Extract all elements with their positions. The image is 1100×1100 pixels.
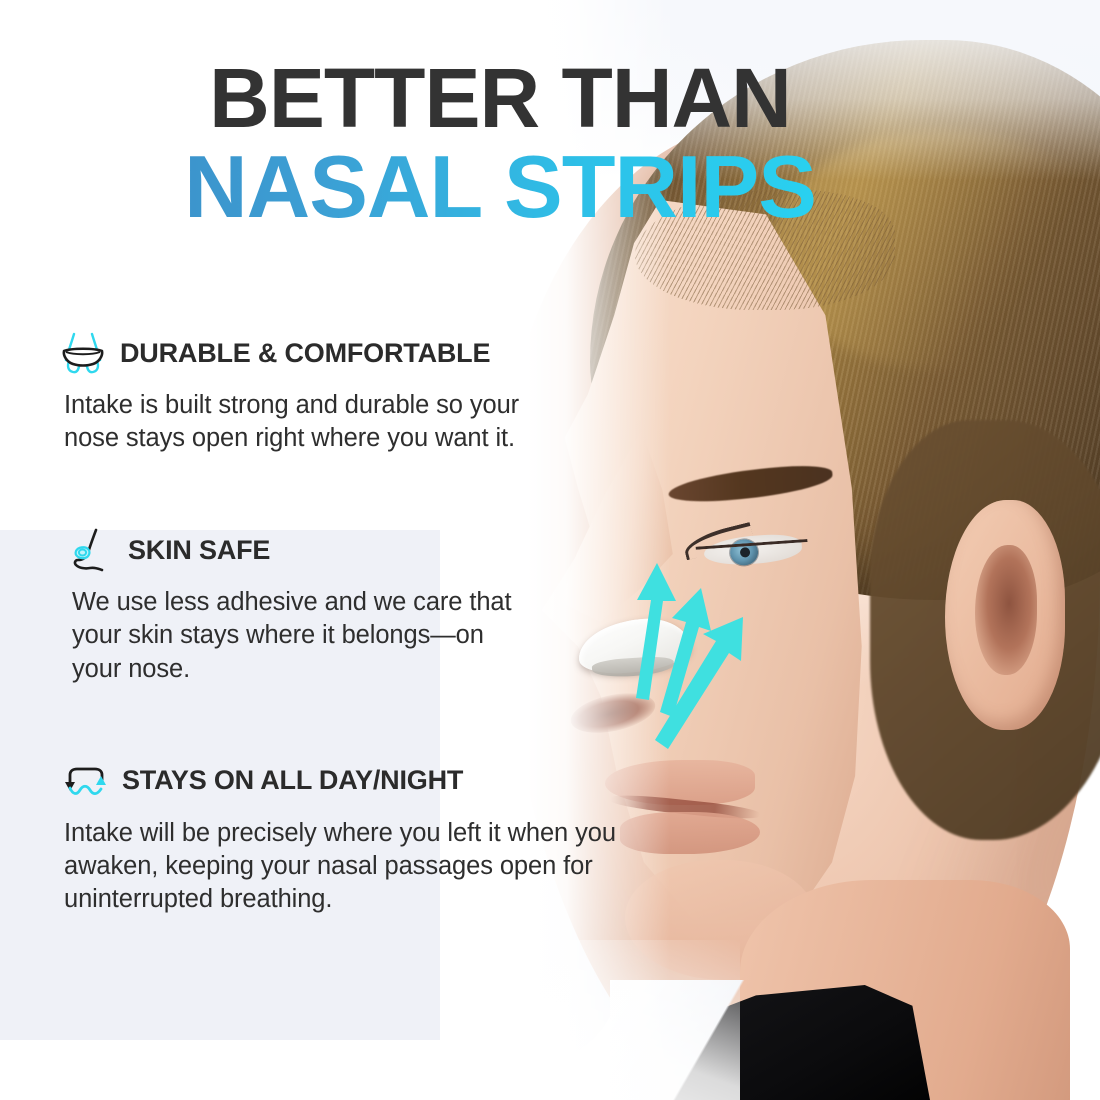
feature-heading: SKIN SAFE	[66, 527, 708, 573]
ear-canal	[975, 545, 1037, 675]
feature-heading: DURABLE & COMFORTABLE	[58, 330, 708, 376]
feature-body: Intake will be precisely where you left …	[64, 817, 694, 916]
feature-heading: STAYS ON ALL DAY/NIGHT	[60, 758, 708, 804]
nose-front-with-device-icon	[58, 330, 108, 376]
promo-graphic: BETTER THAN NASAL STRIPS DURABLE & COMFO…	[0, 0, 1100, 1100]
background-panel-white-bottom	[0, 1040, 480, 1100]
feature-title: SKIN SAFE	[128, 535, 270, 566]
day-night-loop-arrows-icon	[60, 758, 110, 804]
headline-line-1: BETTER THAN	[0, 58, 1000, 139]
feature-item-stays-on: STAYS ON ALL DAY/NIGHT Intake will be pr…	[60, 758, 708, 916]
feature-list: DURABLE & COMFORTABLE Intake is built st…	[58, 330, 708, 916]
nose-profile-with-device-icon	[66, 527, 116, 573]
feature-item-durable-comfortable: DURABLE & COMFORTABLE Intake is built st…	[58, 330, 708, 455]
feature-title: DURABLE & COMFORTABLE	[120, 338, 490, 369]
feature-item-skin-safe: SKIN SAFE We use less adhesive and we ca…	[66, 527, 708, 685]
headline: BETTER THAN NASAL STRIPS	[0, 58, 1000, 231]
feature-body: We use less adhesive and we care that yo…	[72, 586, 532, 685]
photo-fade-bottom	[440, 940, 740, 1100]
feature-body: Intake is built strong and durable so yo…	[64, 389, 554, 455]
headline-line-2: NASAL STRIPS	[0, 143, 1000, 231]
feature-title: STAYS ON ALL DAY/NIGHT	[122, 765, 463, 796]
